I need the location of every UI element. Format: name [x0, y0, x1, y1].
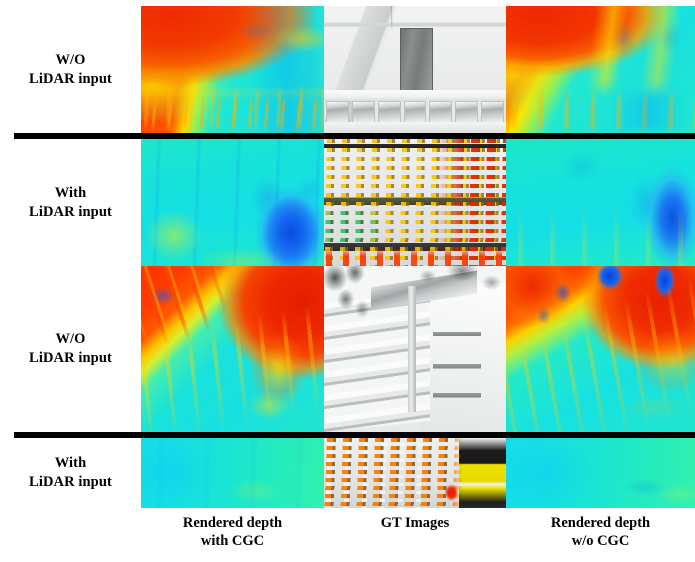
panel-r3c2-gt-image — [324, 266, 506, 432]
depth-texture-layer — [141, 139, 324, 266]
lidar-red-point — [324, 438, 506, 508]
row-label-2: With LiDAR input — [0, 139, 141, 266]
panel-r1c3-rendered-depth-wo-cgc — [506, 6, 695, 133]
column-caption-2-line1: GT Images — [324, 514, 506, 532]
panel-r2c1-rendered-depth-with-cgc — [141, 139, 324, 266]
row-label-4-line1: With — [55, 454, 87, 473]
row-label-2-line2: LiDAR input — [29, 203, 112, 222]
column-caption-gt-images: GT Images — [324, 514, 506, 532]
depth-texture-layer — [506, 6, 695, 133]
row-label-4: With LiDAR input — [0, 438, 141, 508]
depth-speckle-layer — [141, 6, 324, 133]
row-label-1: W/O LiDAR input — [0, 6, 141, 133]
column-caption-1-line1: Rendered depth — [141, 514, 324, 532]
panel-r3c1-rendered-depth-with-cgc — [141, 266, 324, 432]
column-caption-3-line2: w/o CGC — [506, 532, 695, 550]
panel-r4c3-rendered-depth-wo-cgc — [506, 438, 695, 508]
row-label-3-line2: LiDAR input — [29, 349, 112, 368]
figure-root: W/O LiDAR input With LiDAR input — [0, 0, 695, 562]
depth-texture-layer — [506, 266, 695, 432]
column-caption-1-line2: with CGC — [141, 532, 324, 550]
row-label-3: W/O LiDAR input — [0, 266, 141, 432]
column-caption-rendered-depth-wo-cgc: Rendered depth w/o CGC — [506, 514, 695, 550]
row-label-2-line1: With — [55, 184, 87, 203]
photo-antenna-layer — [324, 6, 506, 133]
row-label-1-line1: W/O — [55, 51, 85, 70]
row-label-3-line1: W/O — [55, 330, 85, 349]
depth-texture-layer — [506, 438, 695, 508]
panel-r1c2-gt-image — [324, 6, 506, 133]
depth-texture-layer — [141, 438, 324, 508]
row-label-1-line2: LiDAR input — [29, 70, 112, 89]
panel-r4c1-rendered-depth-with-cgc — [141, 438, 324, 508]
depth-texture-layer — [141, 266, 324, 432]
panel-r2c2-gt-image-lidar — [324, 139, 506, 266]
panel-r3c3-rendered-depth-wo-cgc — [506, 266, 695, 432]
column-caption-rendered-depth-with-cgc: Rendered depth with CGC — [141, 514, 324, 550]
panel-r4c2-gt-image-lidar — [324, 438, 506, 508]
depth-texture-layer — [506, 139, 695, 266]
column-caption-3-line1: Rendered depth — [506, 514, 695, 532]
lidar-bottom-points-layer — [324, 139, 506, 266]
panel-r2c3-rendered-depth-wo-cgc — [506, 139, 695, 266]
row-label-4-line2: LiDAR input — [29, 473, 112, 492]
panel-r1c1-rendered-depth-with-cgc — [141, 6, 324, 133]
photo-foliage-layer — [324, 266, 506, 432]
